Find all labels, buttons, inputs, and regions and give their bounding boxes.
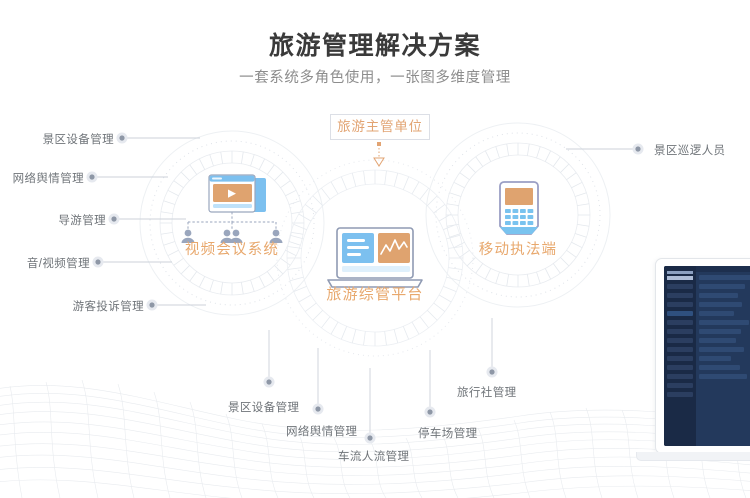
corner-mark-br [422,132,430,140]
node-label-right-1[interactable]: 景区巡逻人员 [654,142,725,158]
device-content-row [699,320,749,325]
device-menu-item [667,347,693,352]
box-edge-left [330,121,331,133]
box-edge-bottom [337,139,423,140]
device-menu-item [667,338,693,343]
node-label-left-4[interactable]: 音/视频管理 [0,255,90,271]
device-content-row [699,338,736,343]
device-content-row [699,365,740,370]
handheld-device-icon [500,182,538,234]
device-sidebar [664,266,696,446]
node-label-bottom-3[interactable]: 车流人流管理 [338,448,409,464]
authority-box[interactable]: 旅游主管单位 [330,114,430,140]
device-content-row [699,347,744,352]
ring-center [277,160,473,356]
device-content-row [699,284,745,289]
authority-arrow-icon [374,142,384,166]
device-brand-logo [667,271,693,280]
device-menu-item [667,302,693,307]
device-menu-item [667,365,693,370]
device-content-row [699,329,741,334]
node-label-left-3[interactable]: 导游管理 [0,212,106,228]
ring-left [140,131,324,315]
connector-lines-bottom [269,318,492,438]
ring-right [426,123,610,307]
node-label-bottom-1[interactable]: 景区设备管理 [228,399,299,415]
device-menu-item [667,374,693,379]
corner-mark-tl [330,114,338,122]
box-edge-right [429,121,430,133]
node-label-left-5[interactable]: 游客投诉管理 [0,298,144,314]
device-stand [636,452,750,461]
device-content-row [699,302,742,307]
device-menu-item [667,293,693,298]
page-title: 旅游管理解决方案 [0,26,750,62]
node-label-left-2[interactable]: 网络舆情管理 [0,170,84,186]
connector-lines-left [92,138,206,305]
device-content-row [699,293,738,298]
node-label-bottom-4[interactable]: 停车场管理 [418,425,478,441]
wireframe-mesh [0,380,750,498]
device-screen [664,266,750,446]
node-label-bottom-2[interactable]: 网络舆情管理 [286,423,357,439]
laptop-dashboard-icon [328,228,422,287]
device-menu-item [667,320,693,325]
node-label-left-1[interactable]: 景区设备管理 [0,131,114,147]
cluster-caption-video-conference: 视频会议系统 [162,238,302,259]
device-menu-item [667,356,693,361]
cluster-caption-mobile-enforcement: 移动执法端 [448,238,588,259]
device-menu-item [667,329,693,334]
device-content-row [699,356,731,361]
authority-label: 旅游主管单位 [337,119,423,134]
device-content-row [699,374,747,379]
box-edge-top [337,114,423,115]
device-topbar [696,266,750,272]
device-menu-item [667,284,693,289]
device-content-row [699,311,734,316]
video-window-icon [182,175,283,243]
device-menu-item-active [667,311,693,316]
cluster-caption-tourism-platform: 旅游综管平台 [305,283,445,304]
dashboard-device-mockup [655,258,750,454]
node-label-bottom-5[interactable]: 旅行社管理 [457,384,517,400]
device-menu-item [667,392,693,397]
tourism-solution-infographic: 旅游管理解决方案 一套系统多角色使用，一张图多维度管理 旅游主管单位 视频会议系… [0,0,750,498]
device-content-row [699,275,750,280]
device-menu-item [667,383,693,388]
device-content-panel [696,266,750,446]
page-subtitle: 一套系统多角色使用，一张图多维度管理 [0,66,750,87]
